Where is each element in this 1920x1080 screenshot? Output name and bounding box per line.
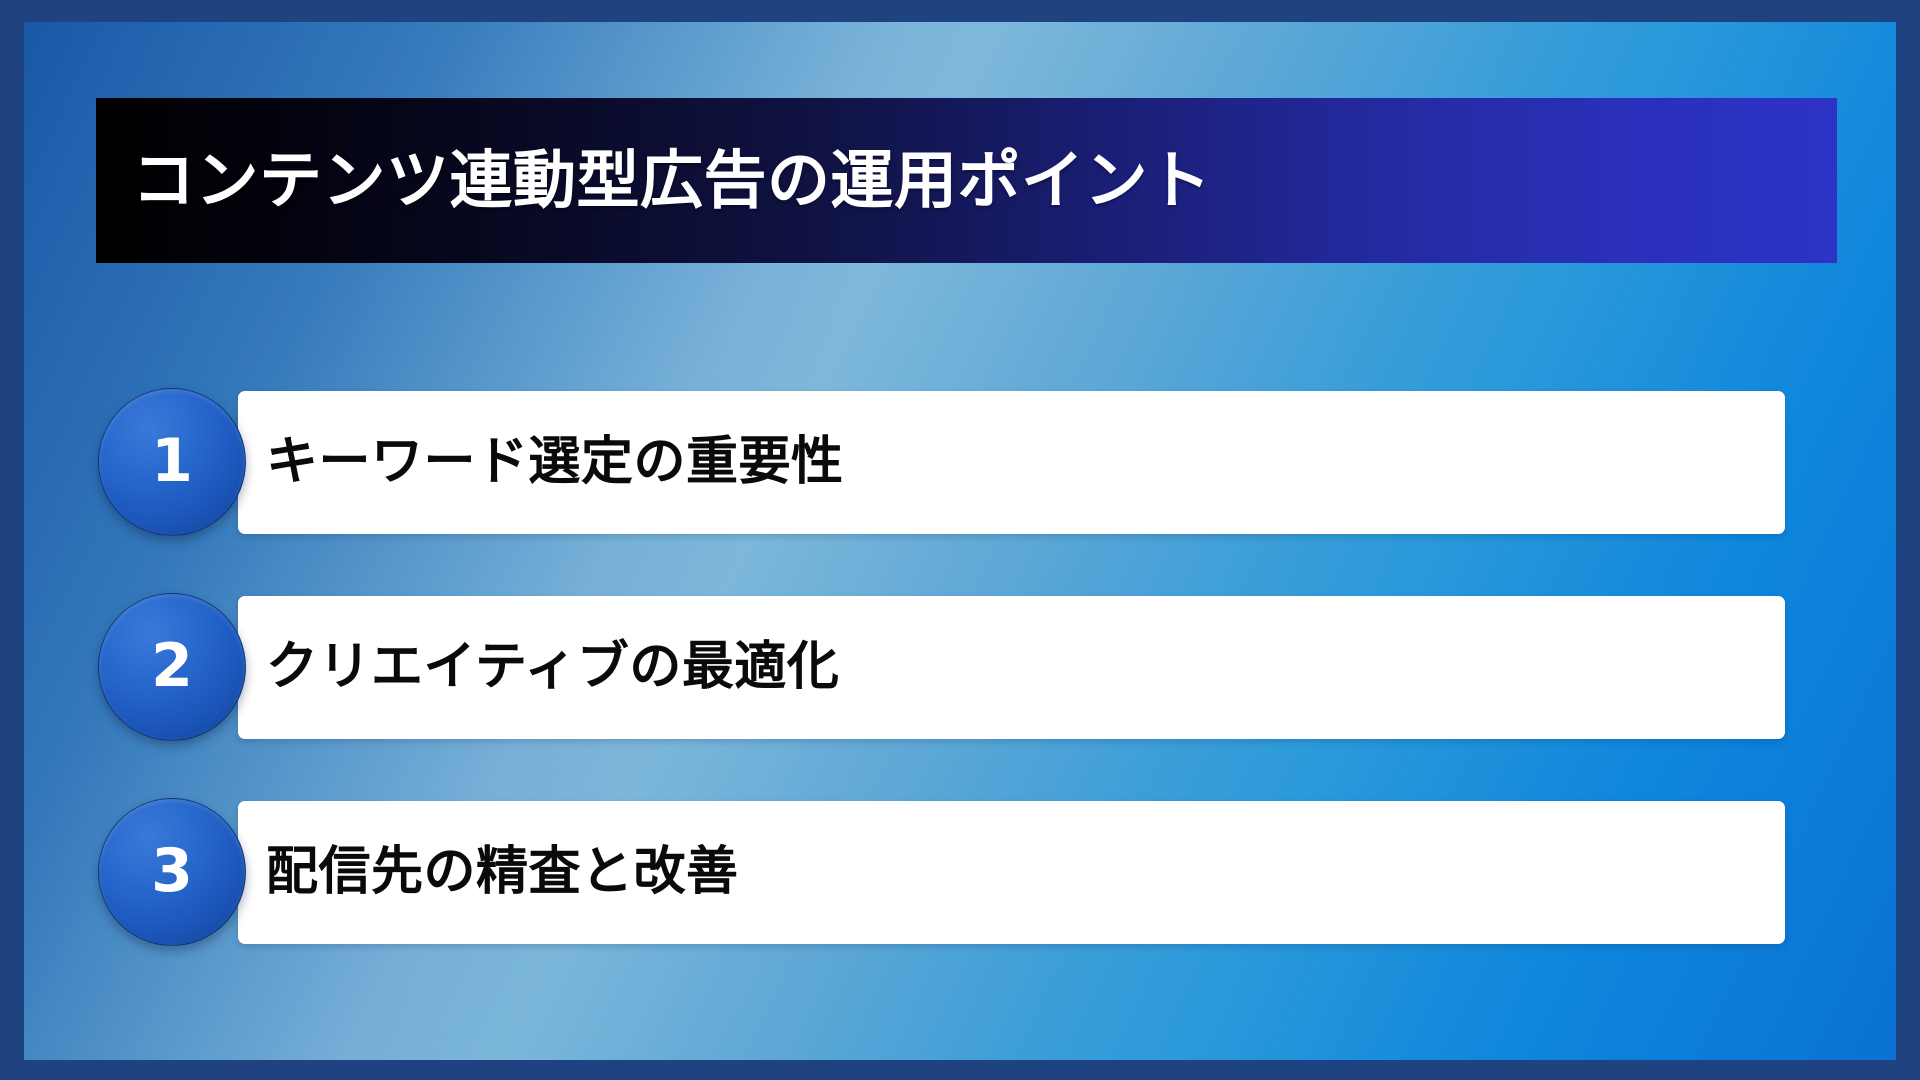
point-card-3: 配信先の精査と改善: [238, 801, 1785, 944]
point-label-1: キーワード選定の重要性: [238, 436, 844, 488]
slide-title-band: コンテンツ連動型広告の運用ポイント: [96, 98, 1837, 263]
point-number-1: 1: [151, 431, 193, 491]
point-card-2: クリエイティブの最適化: [238, 596, 1785, 739]
point-number-badge-1: 1: [98, 388, 246, 536]
point-number-badge-2: 2: [98, 593, 246, 741]
points-list: 1 キーワード選定の重要性 2 クリエイティブの最適化 3: [24, 388, 1896, 946]
point-label-3: 配信先の精査と改善: [238, 846, 739, 898]
page-title: コンテンツ連動型広告の運用ポイント: [96, 149, 1212, 212]
point-label-2: クリエイティブの最適化: [238, 641, 839, 693]
slide-frame: コンテンツ連動型広告の運用ポイント 1 キーワード選定の重要性 2 クリエイティ…: [0, 0, 1920, 1080]
point-number-badge-3: 3: [98, 798, 246, 946]
point-number-2: 2: [151, 636, 193, 696]
list-item: 1 キーワード選定の重要性: [24, 388, 1896, 536]
point-number-3: 3: [151, 841, 193, 901]
list-item: 2 クリエイティブの最適化: [24, 593, 1896, 741]
point-card-1: キーワード選定の重要性: [238, 391, 1785, 534]
slide-canvas: コンテンツ連動型広告の運用ポイント 1 キーワード選定の重要性 2 クリエイティ…: [24, 22, 1896, 1060]
list-item: 3 配信先の精査と改善: [24, 798, 1896, 946]
